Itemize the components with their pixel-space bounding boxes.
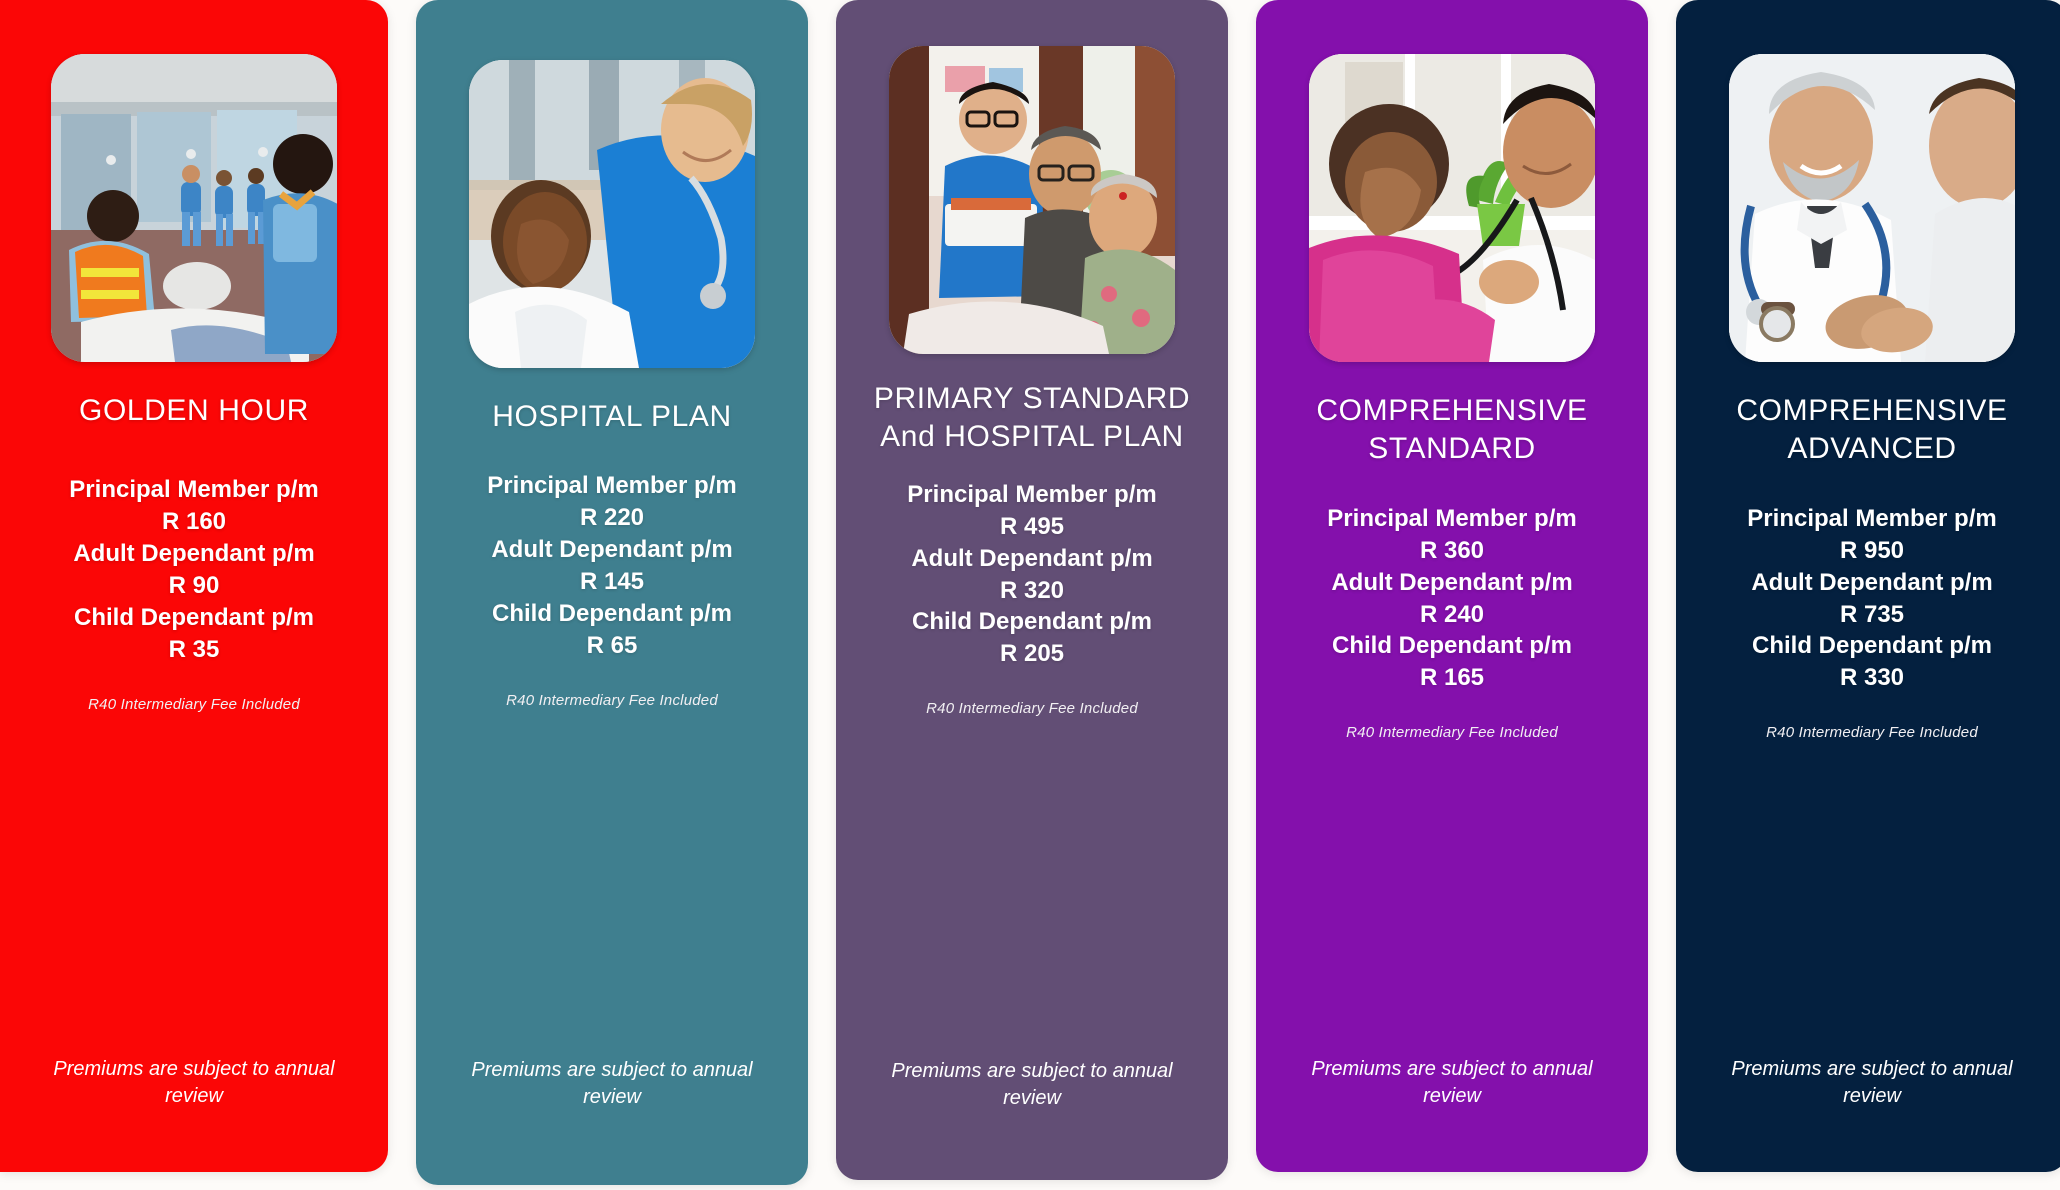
- principal-member-price: R 220: [442, 502, 782, 534]
- plan-title: COMPREHENSIVE ADVANCED: [1722, 392, 2022, 469]
- intermediary-fee-note: R40 Intermediary Fee Included: [29, 696, 359, 713]
- child-dependant-label: Child Dependant p/m: [862, 606, 1202, 638]
- principal-member-price: R 160: [24, 506, 364, 538]
- annual-review-note: Premiums are subject to annual review: [462, 1057, 762, 1111]
- plan-price-block: Principal Member p/m R 360 Adult Dependa…: [1282, 503, 1622, 694]
- adult-dependant-label: Adult Dependant p/m: [24, 538, 364, 570]
- plan-image-doctor-examining-child-photo: [1309, 54, 1595, 362]
- principal-member-price: R 360: [1282, 535, 1622, 567]
- principal-member-label: Principal Member p/m: [24, 474, 364, 506]
- plan-image-nurse-with-patient-photo: [469, 60, 755, 368]
- plan-card-comprehensive-advanced[interactable]: COMPREHENSIVE ADVANCED Principal Member …: [1676, 0, 2060, 1172]
- principal-member-price: R 950: [1702, 535, 2042, 567]
- child-dependant-price: R 165: [1282, 662, 1622, 694]
- plan-price-block: Principal Member p/m R 950 Adult Dependa…: [1702, 503, 2042, 694]
- plan-title: PRIMARY STANDARD And HOSPITAL PLAN: [867, 380, 1197, 457]
- plan-title: COMPREHENSIVE STANDARD: [1302, 392, 1602, 469]
- annual-review-note: Premiums are subject to annual review: [882, 1058, 1182, 1112]
- principal-member-label: Principal Member p/m: [442, 470, 782, 502]
- plan-title: HOSPITAL PLAN: [462, 398, 762, 436]
- child-dependant-label: Child Dependant p/m: [442, 598, 782, 630]
- principal-member-label: Principal Member p/m: [862, 479, 1202, 511]
- child-dependant-label: Child Dependant p/m: [1702, 630, 2042, 662]
- principal-member-label: Principal Member p/m: [1702, 503, 2042, 535]
- intermediary-fee-note: R40 Intermediary Fee Included: [867, 700, 1197, 717]
- plan-image-caregiver-with-elderly-couple-photo: [889, 46, 1175, 354]
- principal-member-price: R 495: [862, 511, 1202, 543]
- adult-dependant-label: Adult Dependant p/m: [1702, 567, 2042, 599]
- plan-image-doctor-handshake-patient-photo: [1729, 54, 2015, 362]
- annual-review-note: Premiums are subject to annual review: [1722, 1056, 2022, 1110]
- adult-dependant-label: Adult Dependant p/m: [442, 534, 782, 566]
- adult-dependant-price: R 320: [862, 575, 1202, 607]
- plan-card-primary-standard-and-hospital-plan[interactable]: PRIMARY STANDARD And HOSPITAL PLAN Princ…: [836, 0, 1228, 1180]
- adult-dependant-price: R 735: [1702, 599, 2042, 631]
- child-dependant-price: R 205: [862, 638, 1202, 670]
- adult-dependant-price: R 240: [1282, 599, 1622, 631]
- adult-dependant-label: Adult Dependant p/m: [1282, 567, 1622, 599]
- intermediary-fee-note: R40 Intermediary Fee Included: [1707, 724, 2037, 741]
- pricing-plans-row: GOLDEN HOUR Principal Member p/m R 160 A…: [0, 0, 2060, 1190]
- plan-price-block: Principal Member p/m R 220 Adult Dependa…: [442, 470, 782, 661]
- plan-price-block: Principal Member p/m R 495 Adult Dependa…: [862, 479, 1202, 670]
- plan-title: GOLDEN HOUR: [44, 392, 344, 430]
- intermediary-fee-note: R40 Intermediary Fee Included: [447, 692, 777, 709]
- plan-card-golden-hour[interactable]: GOLDEN HOUR Principal Member p/m R 160 A…: [0, 0, 388, 1172]
- annual-review-note: Premiums are subject to annual review: [1302, 1056, 1602, 1110]
- child-dependant-price: R 330: [1702, 662, 2042, 694]
- annual-review-note: Premiums are subject to annual review: [44, 1056, 344, 1110]
- intermediary-fee-note: R40 Intermediary Fee Included: [1287, 724, 1617, 741]
- child-dependant-price: R 35: [24, 634, 364, 666]
- plan-image-paramedics-stretcher-photo: [51, 54, 337, 362]
- adult-dependant-price: R 145: [442, 566, 782, 598]
- child-dependant-label: Child Dependant p/m: [24, 602, 364, 634]
- plan-card-hospital-plan[interactable]: HOSPITAL PLAN Principal Member p/m R 220…: [416, 0, 808, 1185]
- adult-dependant-label: Adult Dependant p/m: [862, 543, 1202, 575]
- plan-price-block: Principal Member p/m R 160 Adult Dependa…: [24, 474, 364, 665]
- principal-member-label: Principal Member p/m: [1282, 503, 1622, 535]
- plan-card-comprehensive-standard[interactable]: COMPREHENSIVE STANDARD Principal Member …: [1256, 0, 1648, 1172]
- adult-dependant-price: R 90: [24, 570, 364, 602]
- child-dependant-label: Child Dependant p/m: [1282, 630, 1622, 662]
- child-dependant-price: R 65: [442, 630, 782, 662]
